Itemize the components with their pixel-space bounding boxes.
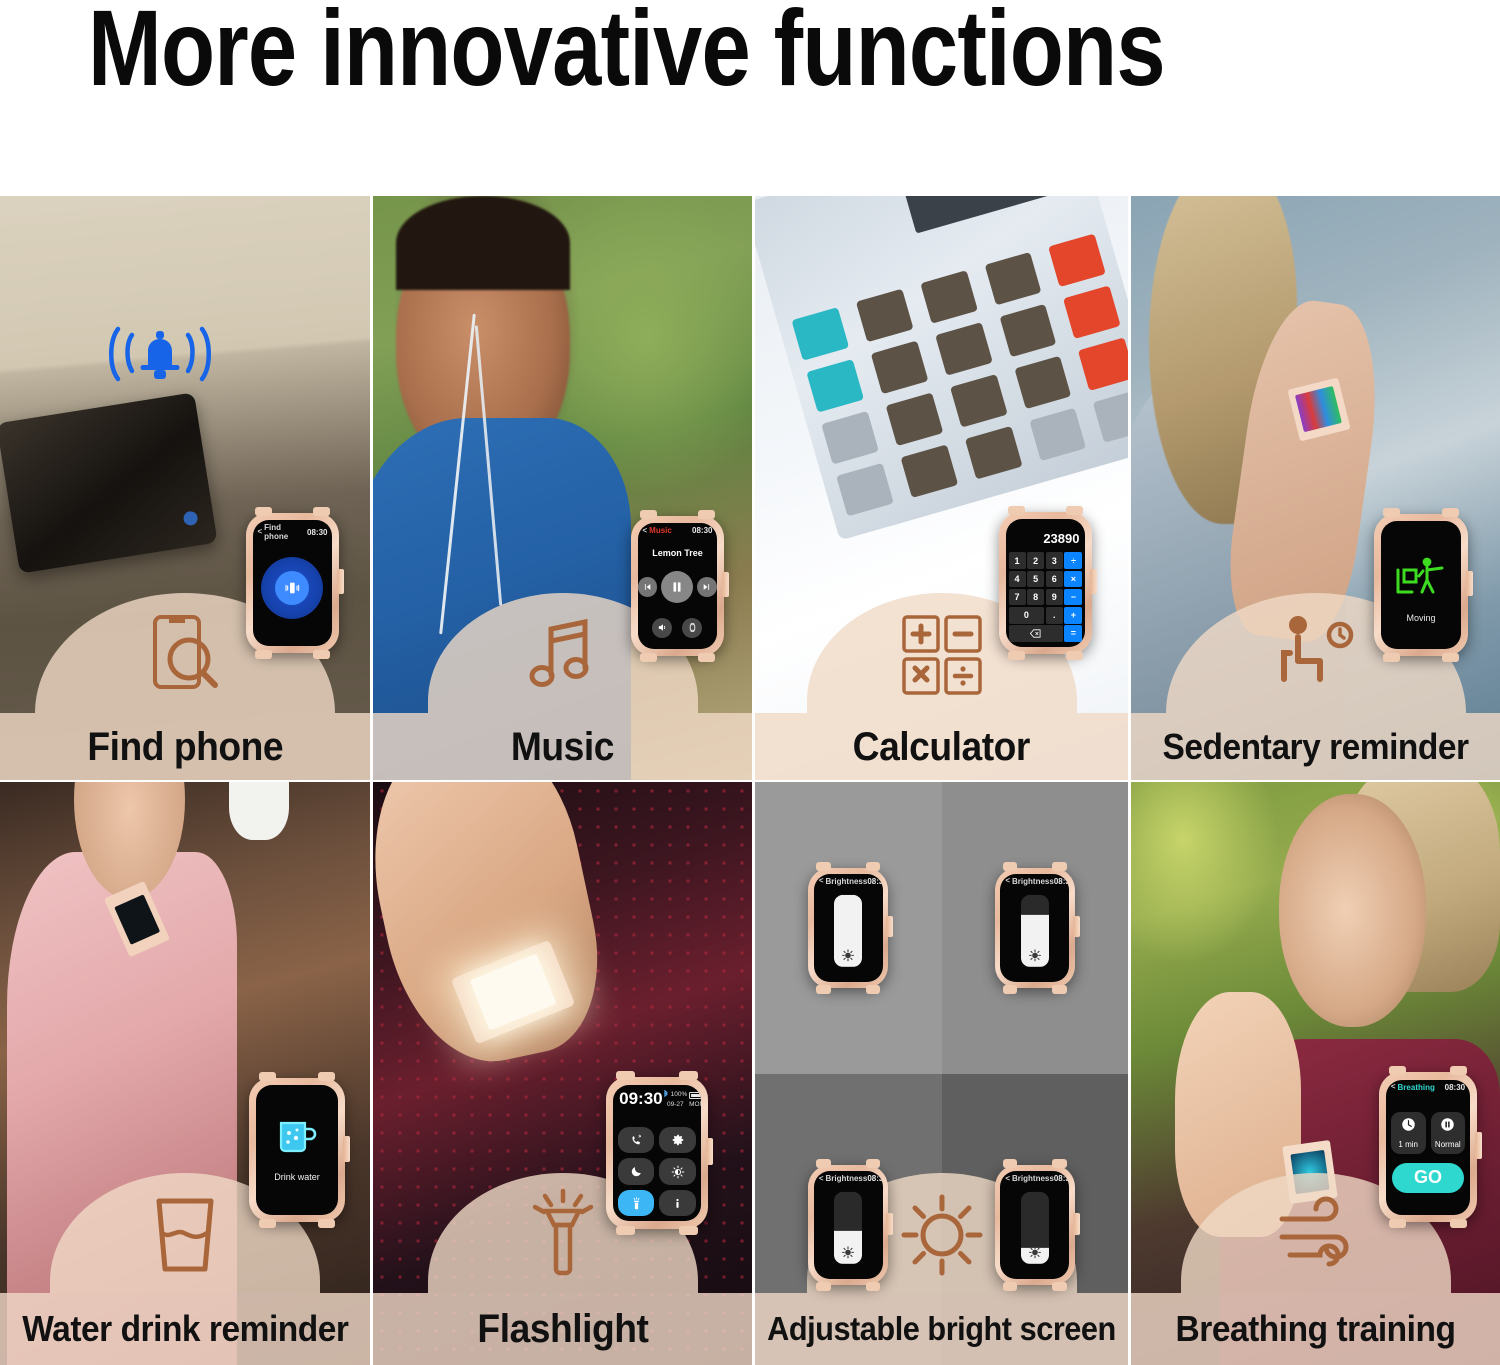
feature-row-2: Drink water Water drink reminder	[0, 782, 1500, 1365]
brightness-slider[interactable]	[1021, 895, 1049, 967]
drink-water-label: Drink water	[274, 1172, 320, 1182]
feature-caption: Calculator	[853, 725, 1030, 770]
watch-device-find-phone: < Find phone 08:30	[246, 513, 339, 653]
watch-status-bar: < Find phone 08:30	[253, 523, 333, 541]
calc-key-minus[interactable]: −	[1064, 589, 1082, 606]
watch-screen-title: Brightness	[826, 877, 868, 886]
wind-swirl-icon	[1268, 1187, 1364, 1283]
feature-tile-water-drink-reminder[interactable]: Drink water Water drink reminder	[0, 782, 370, 1365]
sun-icon	[842, 949, 855, 962]
find-phone-icon[interactable]	[618, 1127, 654, 1153]
watch-device-brightness-1: < Brightness 08:30	[808, 868, 888, 988]
watch-device-flashlight: 09:30 100%	[606, 1077, 708, 1229]
watch-device-breathing: < Breathing 08:30	[1379, 1072, 1477, 1222]
brightness-slider[interactable]	[1021, 1192, 1049, 1264]
caption-band-calculator: Calculator	[755, 713, 1128, 781]
watch-crown-button[interactable]	[1466, 571, 1473, 597]
pause-icon[interactable]	[661, 571, 693, 603]
feature-caption: Water drink reminder	[22, 1308, 348, 1350]
watch-screen-music[interactable]: < Music 08:30 Lemon Tree	[638, 523, 718, 649]
flashlight-icon[interactable]	[618, 1190, 654, 1216]
breathing-pace-label: Normal	[1435, 1140, 1461, 1149]
calc-key-divide[interactable]: ÷	[1064, 552, 1082, 569]
watch-clock: 08:30	[867, 877, 882, 886]
caption-band-water: Water drink reminder	[0, 1293, 370, 1365]
feature-row-1: < Find phone 08:30	[0, 196, 1500, 781]
smartphone-photo	[0, 392, 218, 573]
breathing-options: 1 min Normal	[1391, 1112, 1465, 1154]
watch-crown-button[interactable]	[337, 569, 344, 594]
quick-settings-grid	[618, 1127, 696, 1216]
watch-device-brightness-3: < Brightness 08:30	[808, 1165, 888, 1285]
brightness-cell-1: < Brightness 08:30	[755, 782, 942, 1074]
watch-device-water: Drink water	[249, 1078, 345, 1222]
watch-screen-brightness-1[interactable]: < Brightness 08:30	[814, 874, 883, 982]
watch-crown-button[interactable]	[1073, 916, 1080, 938]
water-glass-icon	[137, 1187, 233, 1283]
stand-up-from-chair-icon	[1394, 556, 1448, 607]
watch-crown-button[interactable]	[886, 916, 893, 938]
calc-key-0[interactable]: 0	[1009, 607, 1045, 624]
title-bar: More innovative functions	[0, 0, 1500, 196]
feature-caption: Music	[511, 725, 614, 770]
watch-status-bar: < Brightness 08:30	[1000, 1174, 1069, 1183]
watch-screen-water[interactable]: Drink water	[256, 1085, 339, 1215]
watch-status-bar: < Breathing 08:30	[1386, 1083, 1470, 1092]
watch-weekday: MON	[689, 1101, 701, 1108]
watch-crown-button[interactable]	[706, 1138, 713, 1165]
watch-screen-find-phone[interactable]: < Find phone 08:30	[253, 520, 333, 646]
calc-key-7[interactable]: 7	[1009, 589, 1026, 606]
calc-key-5[interactable]: 5	[1027, 571, 1044, 588]
caption-band-breathing: Breathing training	[1131, 1293, 1500, 1365]
watch-crown-button[interactable]	[1073, 1213, 1080, 1235]
watch-crown-button[interactable]	[1475, 1132, 1482, 1159]
feature-grid: < Find phone 08:30	[0, 196, 1500, 1365]
caption-band-bright-screen: Adjustable bright screen	[755, 1293, 1128, 1365]
watch-device-brightness-4: < Brightness 08:30	[995, 1165, 1075, 1285]
caption-band-flashlight: Flashlight	[373, 1293, 752, 1365]
calc-key-9[interactable]: 9	[1046, 589, 1063, 606]
feature-tile-sedentary-reminder[interactable]: Moving Sedentary reminder	[1131, 196, 1500, 781]
find-phone-ring-button[interactable]	[261, 557, 323, 619]
sun-icon	[1028, 1246, 1041, 1259]
music-track-title: Lemon Tree	[638, 548, 718, 558]
page-title: More innovative functions	[88, 0, 1165, 102]
back-chevron-icon[interactable]: < Brightness	[819, 1174, 867, 1183]
watch-screen-title: Find phone	[264, 523, 307, 541]
pace-icon	[1440, 1117, 1455, 1137]
watch-crown-button[interactable]	[722, 572, 729, 597]
breathing-pace-option[interactable]: Normal	[1431, 1112, 1466, 1154]
watch-screen-title: Brightness	[1012, 877, 1054, 886]
feature-tile-find-phone[interactable]: < Find phone 08:30	[0, 196, 370, 781]
back-chevron-icon[interactable]: < Brightness	[1005, 1174, 1053, 1183]
sun-icon	[1028, 949, 1041, 962]
bluetooth-icon	[663, 1090, 669, 1101]
product-feature-page: More innovative functions	[0, 0, 1500, 1365]
battery-percent-label: 100%	[671, 1091, 688, 1099]
info-icon[interactable]	[659, 1190, 695, 1216]
sun-icon	[894, 1187, 990, 1283]
feature-tile-music[interactable]: < Music 08:30 Lemon Tree	[373, 196, 752, 781]
ringing-bell-icon	[100, 319, 230, 393]
sun-icon	[842, 1246, 855, 1259]
calc-key-multiply[interactable]: ×	[1064, 571, 1082, 588]
calc-key-3[interactable]: 3	[1046, 552, 1063, 569]
calc-key-6[interactable]: 6	[1046, 571, 1063, 588]
watch-screen-calculator[interactable]: 23890 1 2 3 4 5 6 7 8 9	[1006, 519, 1086, 647]
watch-screen-brightness-2[interactable]: < Brightness 08:30	[1000, 874, 1069, 982]
music-transport-controls	[638, 571, 718, 603]
back-chevron-icon[interactable]: < Music	[643, 526, 672, 535]
gear-icon[interactable]	[659, 1127, 695, 1153]
watch-screen-title: Brightness	[826, 1174, 868, 1183]
watch-screen-brightness-3[interactable]: < Brightness 08:30	[814, 1171, 883, 1279]
breathing-duration-label: 1 min	[1398, 1140, 1418, 1149]
breathing-go-button[interactable]: GO	[1392, 1163, 1464, 1193]
calc-key-1[interactable]: 1	[1009, 552, 1026, 569]
caption-band-find-phone: Find phone	[0, 713, 370, 781]
calc-key-equals[interactable]: =	[1064, 625, 1082, 642]
watch-screen-title: Brightness	[1012, 1174, 1054, 1183]
feature-caption: Sedentary reminder	[1162, 726, 1468, 768]
backspace-icon[interactable]	[1009, 625, 1063, 642]
music-secondary-controls	[638, 618, 718, 638]
vibrating-phone-icon	[275, 571, 309, 605]
prev-icon[interactable]	[638, 577, 658, 597]
watch-screen-title: Music	[649, 526, 672, 535]
watch-clock: 08:30	[1054, 877, 1069, 886]
flashlight-icon	[515, 1187, 611, 1283]
calc-key-8[interactable]: 8	[1027, 589, 1044, 606]
watch-crown-button[interactable]	[886, 1213, 893, 1235]
watch-device-sedentary: Moving	[1374, 514, 1468, 656]
brightness-slider[interactable]	[834, 1192, 862, 1264]
battery-icon	[689, 1092, 701, 1099]
watch-icon[interactable]	[682, 618, 702, 638]
watch-clock: 08:30	[1445, 1083, 1465, 1092]
back-chevron-icon[interactable]: < Breathing	[1391, 1083, 1435, 1092]
caption-band-sedentary: Sedentary reminder	[1131, 713, 1500, 781]
water-mug-icon	[277, 1117, 317, 1160]
back-chevron-icon[interactable]: < Brightness	[819, 877, 867, 886]
watch-status-bar: < Music 08:30	[638, 526, 718, 535]
grid-row-gutter	[0, 780, 1500, 782]
feature-tile-breathing-training[interactable]: < Breathing 08:30	[1131, 782, 1500, 1365]
calculator-keypad: 1 2 3 4 5 6 7 8 9 0 .	[1009, 552, 1083, 641]
music-note-icon	[515, 607, 611, 703]
feature-tile-calculator[interactable]: 23890 1 2 3 4 5 6 7 8 9	[755, 196, 1128, 781]
feature-caption: Find phone	[87, 725, 283, 770]
watch-crown-button[interactable]	[1090, 569, 1097, 595]
watch-status-bar: < Brightness 08:30	[1000, 877, 1069, 886]
breathing-duration-option[interactable]: 1 min	[1391, 1112, 1426, 1154]
watch-device-music: < Music 08:30 Lemon Tree	[631, 516, 724, 656]
feature-caption: Adjustable bright screen	[767, 1310, 1116, 1348]
brightness-slider[interactable]	[834, 895, 862, 967]
brightness-icon[interactable]	[659, 1158, 695, 1184]
watch-clock: 08:30	[692, 526, 712, 535]
calc-key-2[interactable]: 2	[1027, 552, 1044, 569]
feature-tile-flashlight[interactable]: 09:30 100%	[373, 782, 752, 1365]
calc-key-4[interactable]: 4	[1009, 571, 1026, 588]
seated-person-clock-icon	[1268, 607, 1364, 703]
quick-settings-header: 09:30 100%	[619, 1090, 696, 1109]
watch-clock: 09:30	[619, 1090, 662, 1107]
clock-icon	[1401, 1117, 1416, 1137]
watch-clock: 08:30	[1054, 1174, 1069, 1183]
calc-key-plus[interactable]: +	[1064, 607, 1082, 624]
phone-search-icon	[137, 607, 233, 703]
watch-screen-quick-settings[interactable]: 09:30 100%	[613, 1085, 701, 1222]
feature-caption: Flashlight	[477, 1307, 648, 1352]
calc-key-decimal[interactable]: .	[1046, 607, 1063, 624]
feature-caption: Breathing training	[1176, 1308, 1456, 1350]
math-operators-icon	[894, 607, 990, 703]
back-chevron-icon[interactable]: < Find phone	[258, 523, 308, 541]
feature-tile-adjustable-bright-screen[interactable]: < Brightness 08:30	[755, 782, 1128, 1365]
watch-crown-button[interactable]	[343, 1136, 350, 1162]
watch-device-calculator: 23890 1 2 3 4 5 6 7 8 9	[999, 512, 1092, 654]
watch-screen-brightness-4[interactable]: < Brightness 08:30	[1000, 1171, 1069, 1279]
moon-icon[interactable]	[618, 1158, 654, 1184]
watch-screen-title: Breathing	[1398, 1083, 1435, 1092]
watch-status-bar: < Brightness 08:30	[814, 1174, 883, 1183]
watch-screen-sedentary[interactable]: Moving	[1381, 521, 1462, 649]
calculator-display: 23890	[1043, 531, 1079, 546]
sedentary-status-label: Moving	[1406, 613, 1435, 623]
next-icon[interactable]	[697, 577, 717, 597]
watch-date: 09-27	[667, 1101, 684, 1108]
caption-band-music: Music	[373, 713, 752, 781]
watch-screen-breathing[interactable]: < Breathing 08:30	[1386, 1080, 1470, 1215]
brightness-cell-2: < Brightness 08:30	[942, 782, 1129, 1074]
watch-device-brightness-2: < Brightness 08:30	[995, 868, 1075, 988]
back-chevron-icon[interactable]: < Brightness	[1005, 877, 1053, 886]
watch-clock: 08:30	[307, 528, 327, 537]
volume-icon[interactable]	[652, 618, 672, 638]
watch-clock: 08:30	[867, 1174, 882, 1183]
watch-status-bar: < Brightness 08:30	[814, 877, 883, 886]
